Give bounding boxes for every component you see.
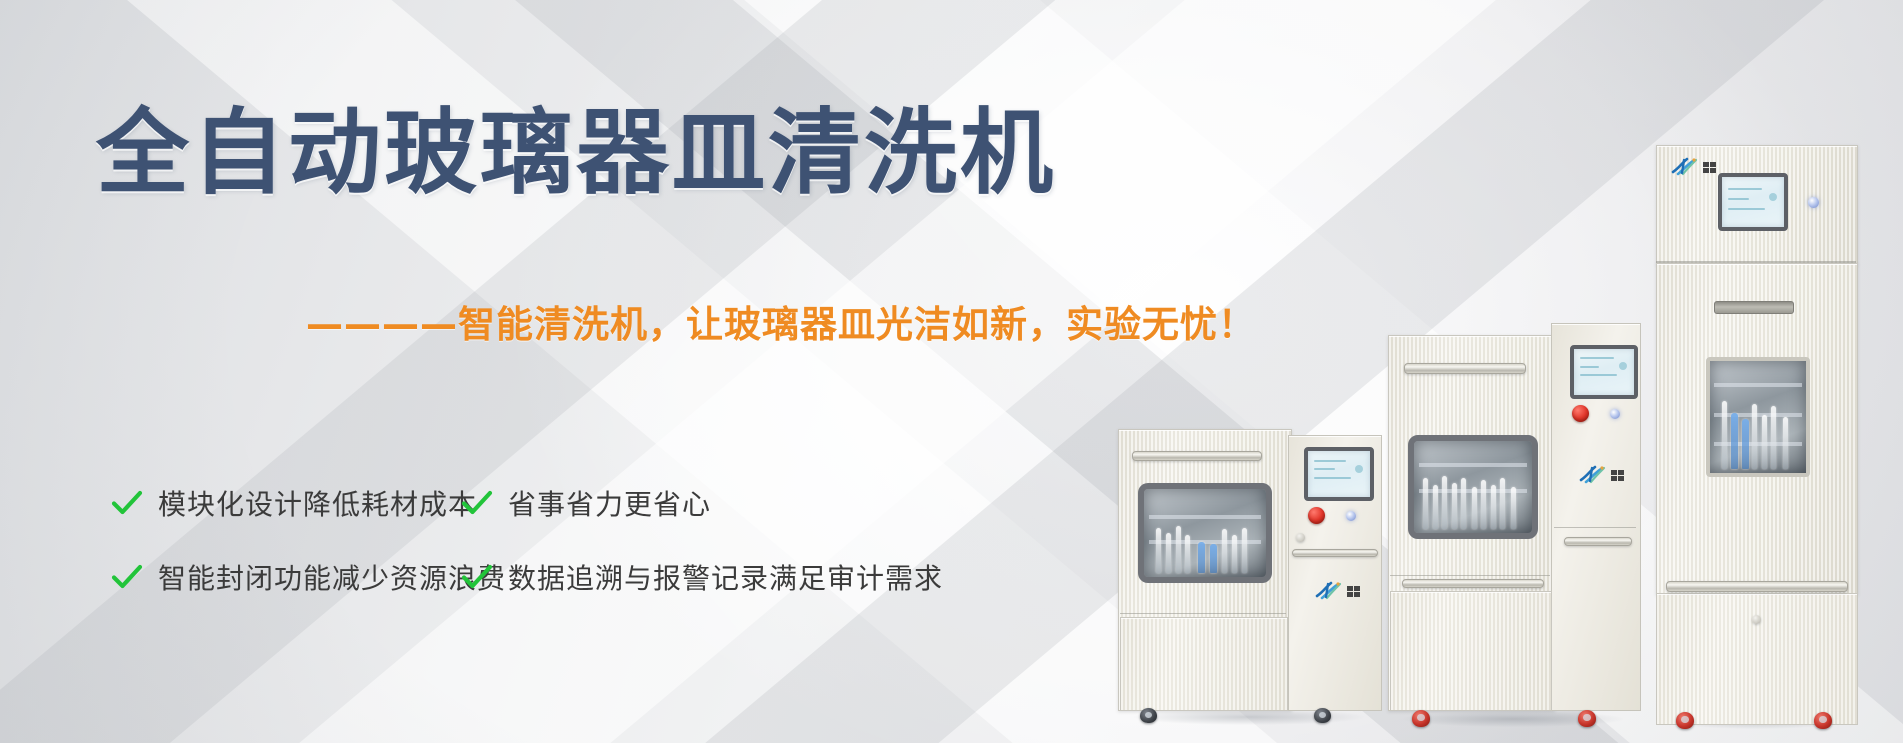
check-icon (460, 486, 494, 520)
brand-h-mark (1314, 581, 1344, 601)
page-title: 全自动玻璃器皿清洗机 (96, 104, 1056, 203)
feature-row: 智能封闭功能减少资源浪费 数据追溯与报警记录满足审计需求 (110, 540, 1070, 614)
feature-list: 模块化设计降低耗材成本 省事省力更省心 智能封闭功能减少资源浪费 (110, 466, 1070, 614)
indicator-light (1346, 511, 1356, 521)
lower-door (1656, 593, 1858, 725)
handle-bar[interactable] (1132, 451, 1262, 461)
feature-label: 模块化设计降低耗材成本 (158, 483, 477, 523)
touchscreen-panel[interactable] (1718, 173, 1788, 231)
viewing-window (1408, 435, 1538, 539)
list-item: 智能封闭功能减少资源浪费 (110, 557, 460, 597)
lower-handle-bar[interactable] (1402, 579, 1544, 588)
emergency-stop-button[interactable] (1308, 507, 1325, 524)
viewing-window (1706, 357, 1810, 477)
feature-label: 省事省力更省心 (508, 483, 711, 523)
brand-wordmark (1703, 162, 1716, 173)
check-icon (110, 486, 144, 520)
glassware-load (1414, 441, 1532, 533)
list-item: 数据追溯与报警记录满足审计需求 (460, 557, 980, 597)
handle-bar[interactable] (1666, 581, 1848, 592)
feature-row: 模块化设计降低耗材成本 省事省力更省心 (110, 466, 1070, 540)
touchscreen-panel[interactable] (1570, 345, 1638, 399)
product-image-small (1118, 421, 1380, 721)
caster-wheel (1676, 712, 1694, 729)
brand-h-mark (1578, 465, 1608, 485)
feature-label: 数据追溯与报警记录满足审计需求 (508, 557, 943, 597)
brand-h-mark (1670, 157, 1700, 177)
promo-banner: 全自动玻璃器皿清洗机 ————智能清洗机，让玻璃器皿光洁如新，实验无忧！ 模块化… (0, 0, 1903, 743)
mid-handle-bar[interactable] (1292, 549, 1378, 557)
product-images (1100, 100, 1903, 743)
emergency-stop-button[interactable] (1572, 405, 1589, 422)
viewing-window (1138, 483, 1272, 583)
lower-door-handle[interactable] (1564, 537, 1632, 546)
panel-seam (1120, 613, 1286, 614)
panel-seam (1390, 575, 1550, 576)
brand-logo (1578, 465, 1624, 485)
lower-door (1390, 591, 1552, 711)
feature-label: 智能封闭功能减少资源浪费 (158, 557, 506, 597)
touchscreen-panel[interactable] (1304, 447, 1374, 501)
indicator-light (1610, 409, 1620, 419)
brand-logo (1670, 157, 1716, 177)
product-image-large (1656, 145, 1856, 725)
caster-wheel (1578, 710, 1596, 727)
caster-wheel (1814, 712, 1832, 729)
indicator-light (1808, 197, 1819, 208)
list-item: 省事省力更省心 (460, 483, 980, 523)
glassware-load (1710, 361, 1806, 473)
product-image-medium (1388, 323, 1638, 723)
caster-wheel (1314, 708, 1331, 723)
list-item: 模块化设计降低耗材成本 (110, 483, 460, 523)
brand-logo (1314, 581, 1360, 601)
lower-door (1120, 617, 1288, 711)
copy-block: 全自动玻璃器皿清洗机 ————智能清洗机，让玻璃器皿光洁如新，实验无忧！ 模块化… (0, 0, 1150, 743)
brand-wordmark (1611, 470, 1624, 481)
handle-bar[interactable] (1404, 363, 1526, 374)
vent-slot (1714, 301, 1794, 314)
caster-wheel (1412, 710, 1430, 727)
brand-wordmark (1347, 586, 1360, 597)
glassware-load (1144, 489, 1266, 577)
panel-seam (1554, 527, 1636, 528)
check-icon (460, 560, 494, 594)
knob[interactable] (1296, 533, 1305, 542)
panel-seam (1656, 261, 1856, 263)
knob[interactable] (1752, 615, 1761, 624)
check-icon (110, 560, 144, 594)
caster-wheel (1140, 708, 1157, 723)
